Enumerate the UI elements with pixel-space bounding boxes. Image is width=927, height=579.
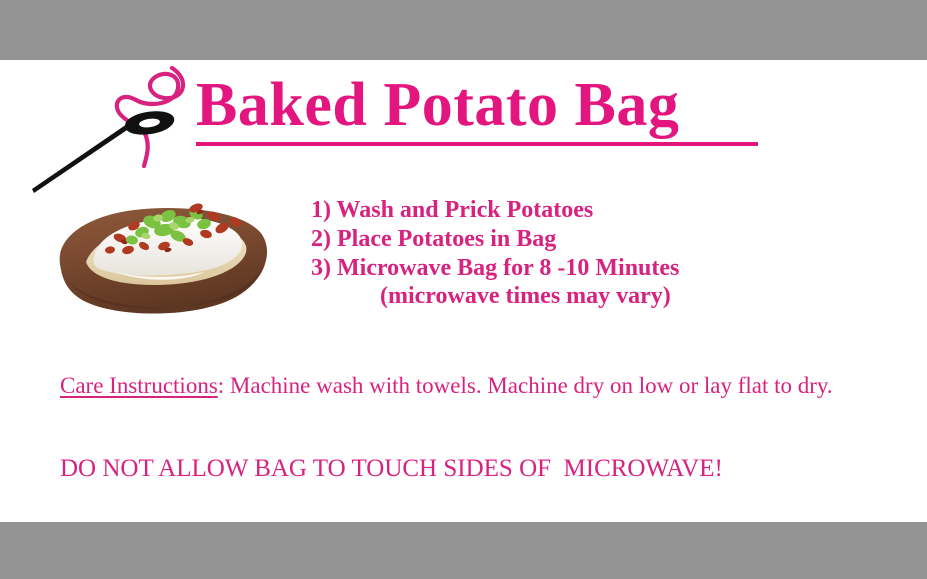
needle-and-thread-graphic xyxy=(20,56,200,206)
care-instructions-text: Machine wash with towels. Machine dry on… xyxy=(230,373,833,398)
care-instructions: Care Instructions: Machine wash with tow… xyxy=(60,371,890,401)
care-separator: : xyxy=(218,373,230,398)
baked-potato-image xyxy=(46,188,278,320)
instruction-card: Baked Potato Bag 1) Wash and Prick Potat… xyxy=(0,0,927,579)
warning-text: DO NOT ALLOW BAG TO TOUCH SIDES OF MICRO… xyxy=(60,455,723,483)
title-block: Baked Potato Bag xyxy=(196,74,796,146)
step-item: 3) Microwave Bag for 8 -10 Minutes xyxy=(311,254,679,283)
steps-list: 1) Wash and Prick Potatoes 2) Place Pota… xyxy=(311,196,679,283)
title-underline xyxy=(196,142,758,146)
top-gray-bar xyxy=(0,0,927,60)
step-item: 2) Place Potatoes in Bag xyxy=(311,225,679,254)
page-title: Baked Potato Bag xyxy=(196,74,796,136)
sewing-needle-icon xyxy=(32,111,174,193)
care-instructions-label: Care Instructions xyxy=(60,373,218,398)
bottom-gray-bar xyxy=(0,522,927,579)
step-item: 1) Wash and Prick Potatoes xyxy=(311,196,679,225)
steps-note: (microwave times may vary) xyxy=(380,283,671,310)
